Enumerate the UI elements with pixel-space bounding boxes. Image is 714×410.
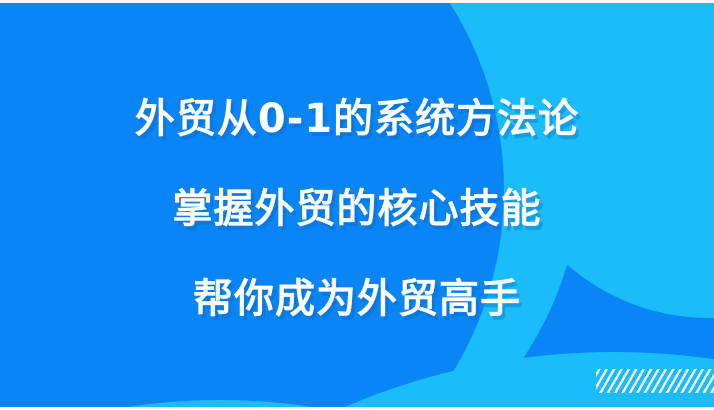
headline-line-1: 外贸从0-1的系统方法论	[135, 98, 579, 140]
headline-block: 外贸从0-1的系统方法论 掌握外贸的核心技能 帮你成为外贸高手	[0, 0, 714, 410]
headline-line-2: 掌握外贸的核心技能	[173, 188, 542, 230]
headline-line-3: 帮你成为外贸高手	[193, 278, 521, 320]
frame-edge-top	[0, 0, 714, 3]
promo-banner: 外贸从0-1的系统方法论 掌握外贸的核心技能 帮你成为外贸高手	[0, 0, 714, 410]
